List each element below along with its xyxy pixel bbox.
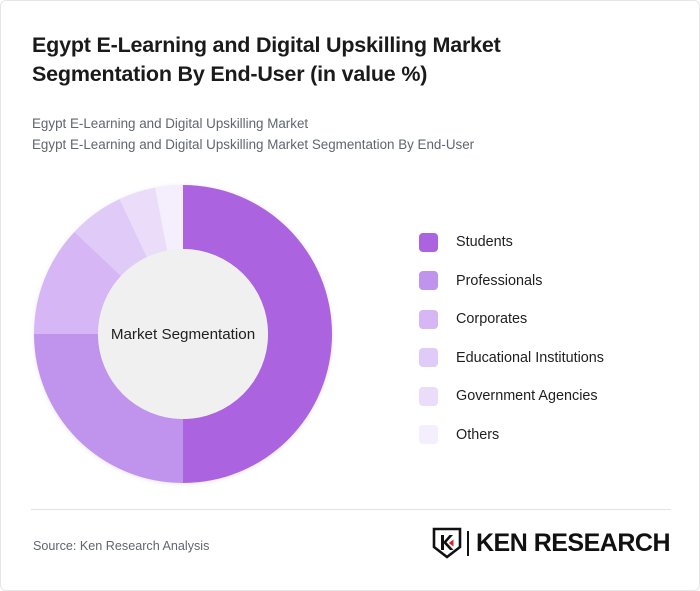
legend-swatch	[419, 387, 438, 406]
legend-item[interactable]: Educational Institutions	[419, 339, 679, 378]
legend-swatch	[419, 233, 438, 252]
legend-swatch	[419, 348, 438, 367]
subtitle-line-2: Egypt E-Learning and Digital Upskilling …	[32, 134, 632, 155]
page-title: Egypt E-Learning and Digital Upskilling …	[32, 31, 632, 89]
chart-card: Egypt E-Learning and Digital Upskilling …	[0, 0, 700, 591]
chart-legend: StudentsProfessionalsCorporatesEducation…	[419, 223, 679, 454]
footer-divider	[31, 509, 671, 510]
legend-swatch	[419, 425, 438, 444]
legend-item[interactable]: Students	[419, 223, 679, 262]
legend-item[interactable]: Government Agencies	[419, 377, 679, 416]
brand-divider	[467, 531, 469, 556]
legend-item-label: Corporates	[456, 311, 527, 327]
legend-item-label: Government Agencies	[456, 388, 598, 404]
legend-item-label: Students	[456, 234, 513, 250]
legend-item[interactable]: Professionals	[419, 262, 679, 301]
chart-area: Market Segmentation StudentsProfessional…	[1, 169, 700, 499]
ken-research-shield-k-icon	[432, 527, 462, 559]
legend-item-label: Educational Institutions	[456, 350, 604, 366]
donut-chart-svg	[34, 185, 332, 483]
brand-name: KEN RESEARCH	[476, 529, 670, 558]
legend-swatch	[419, 310, 438, 329]
legend-item-label: Others	[456, 427, 499, 443]
legend-item-label: Professionals	[456, 273, 542, 289]
donut-hole	[98, 249, 268, 419]
source-note: Source: Ken Research Analysis	[33, 539, 209, 553]
legend-item[interactable]: Corporates	[419, 300, 679, 339]
subtitle-block: Egypt E-Learning and Digital Upskilling …	[32, 113, 632, 155]
legend-swatch	[419, 271, 438, 290]
brand-logo: KEN RESEARCH	[432, 526, 670, 560]
donut-chart: Market Segmentation	[34, 185, 332, 483]
subtitle-line-1: Egypt E-Learning and Digital Upskilling …	[32, 113, 632, 134]
legend-item[interactable]: Others	[419, 416, 679, 455]
